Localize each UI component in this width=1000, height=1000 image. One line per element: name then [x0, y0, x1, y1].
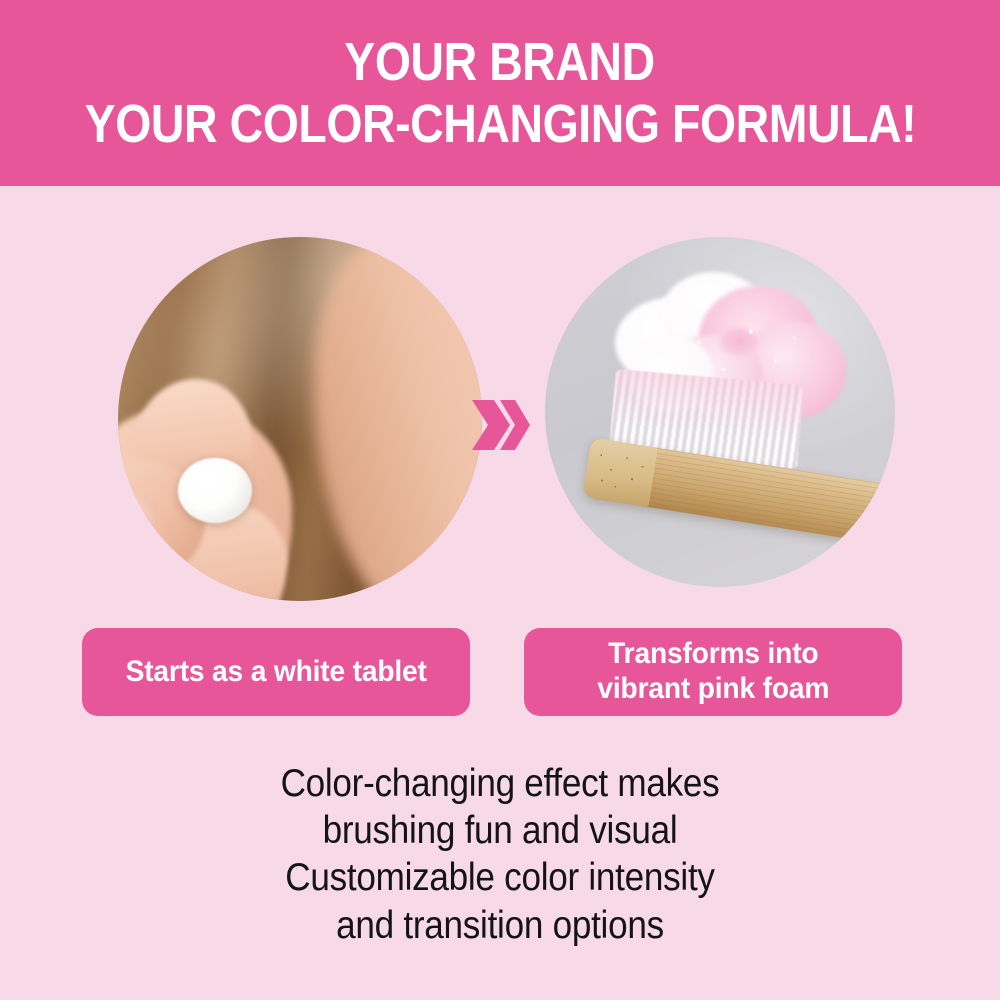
banner-title-line-1: YOUR BRAND [345, 35, 655, 89]
after-photo-circle [545, 237, 895, 587]
body-line-4: and transition options [50, 902, 950, 949]
before-caption-pill: Starts as a white tablet [82, 628, 470, 716]
after-caption-text: Transforms into vibrant pink foam [597, 637, 829, 707]
after-photo-image [545, 237, 895, 587]
body-paragraph: Color-changing effect makes brushing fun… [0, 760, 1000, 949]
before-photo-circle [118, 237, 482, 601]
before-caption-line-1: Starts as a white tablet [125, 655, 426, 690]
bamboo-bristle-holes [587, 442, 653, 501]
before-photo-image [118, 237, 482, 601]
hand-holding-tablet [118, 357, 380, 601]
before-caption-text: Starts as a white tablet [125, 655, 426, 690]
body-line-1: Color-changing effect makes [50, 760, 950, 807]
infographic-canvas: YOUR BRAND YOUR COLOR-CHANGING FORMULA! [0, 0, 1000, 1000]
double-chevron-right-icon [470, 396, 532, 454]
white-tablet [178, 458, 252, 523]
after-caption-line-1: Transforms into [597, 637, 829, 672]
banner-title-line-2: YOUR COLOR-CHANGING FORMULA! [84, 97, 916, 151]
after-caption-line-2: vibrant pink foam [597, 672, 829, 707]
body-line-3: Customizable color intensity [50, 854, 950, 901]
tablet-highlight [187, 465, 227, 492]
body-line-2: brushing fun and visual [50, 807, 950, 854]
bamboo-head-end [582, 437, 657, 506]
after-caption-pill: Transforms into vibrant pink foam [524, 628, 902, 716]
header-banner: YOUR BRAND YOUR COLOR-CHANGING FORMULA! [0, 0, 1000, 186]
